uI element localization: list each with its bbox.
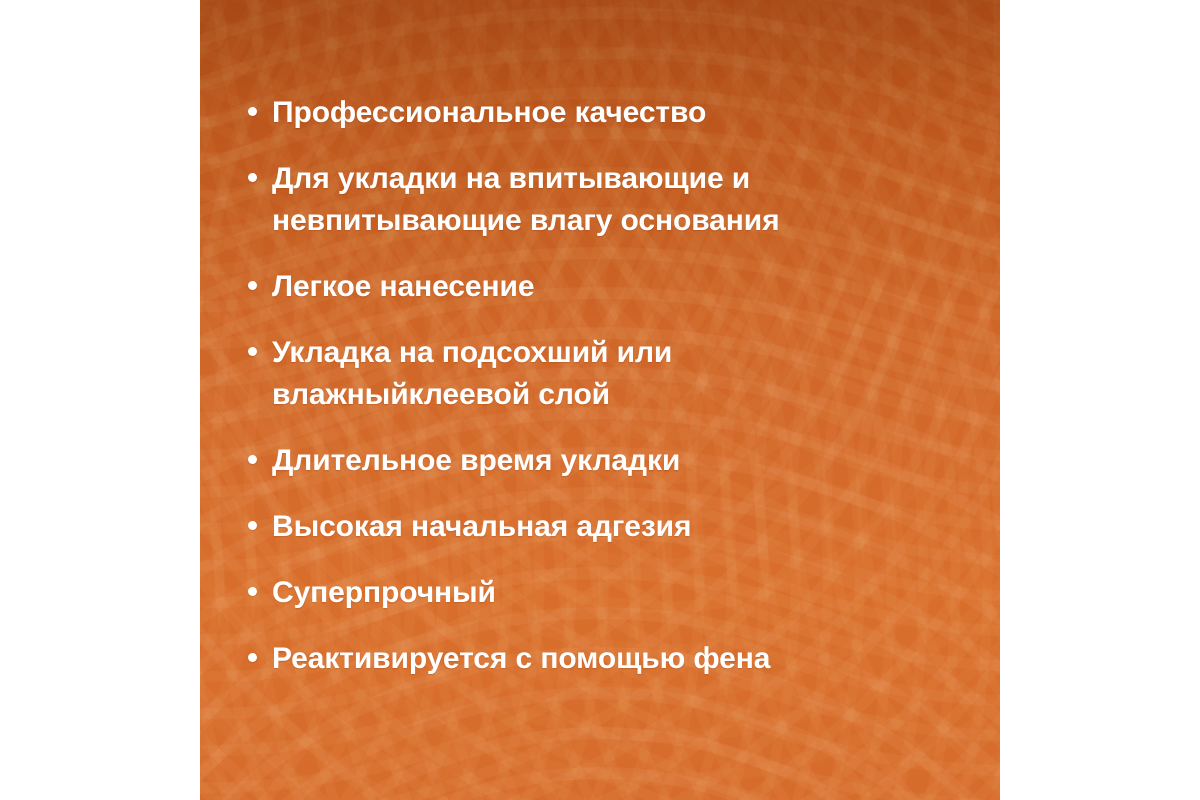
feature-text: Легкое нанесение <box>272 266 948 308</box>
list-item: Профессиональное качество <box>248 92 948 134</box>
list-item: Укладка на подсохший или влажныйклеевой … <box>248 332 948 416</box>
bullet-dot-icon <box>248 107 257 116</box>
bullet-dot-icon <box>248 653 257 662</box>
feature-list: Профессиональное качество Для укладки на… <box>248 92 948 680</box>
list-item: Суперпрочный <box>248 572 948 614</box>
feature-text: Длительное время укладки <box>272 440 948 482</box>
bullet-dot-icon <box>248 587 257 596</box>
bullet-dot-icon <box>248 173 257 182</box>
feature-text: Высокая начальная адгезия <box>272 506 948 548</box>
bullet-dot-icon <box>248 455 257 464</box>
slide-canvas: Профессиональное качество Для укладки на… <box>0 0 1200 800</box>
list-item: Реактивируется с помощью фена <box>248 638 948 680</box>
feature-text: Суперпрочный <box>272 572 948 614</box>
bullet-dot-icon <box>248 281 257 290</box>
feature-text: Профессиональное качество <box>272 92 948 134</box>
bullet-dot-icon <box>248 521 257 530</box>
feature-text: Реактивируется с помощью фена <box>272 638 948 680</box>
list-item: Для укладки на впитывающие и невпитывающ… <box>248 158 948 242</box>
list-item: Высокая начальная адгезия <box>248 506 948 548</box>
feature-text: Для укладки на впитывающие и невпитывающ… <box>272 158 948 242</box>
list-item: Легкое нанесение <box>248 266 948 308</box>
feature-text: Укладка на подсохший или влажныйклеевой … <box>272 332 948 416</box>
bullet-dot-icon <box>248 347 257 356</box>
orange-feature-panel: Профессиональное качество Для укладки на… <box>200 0 1000 800</box>
list-item: Длительное время укладки <box>248 440 948 482</box>
